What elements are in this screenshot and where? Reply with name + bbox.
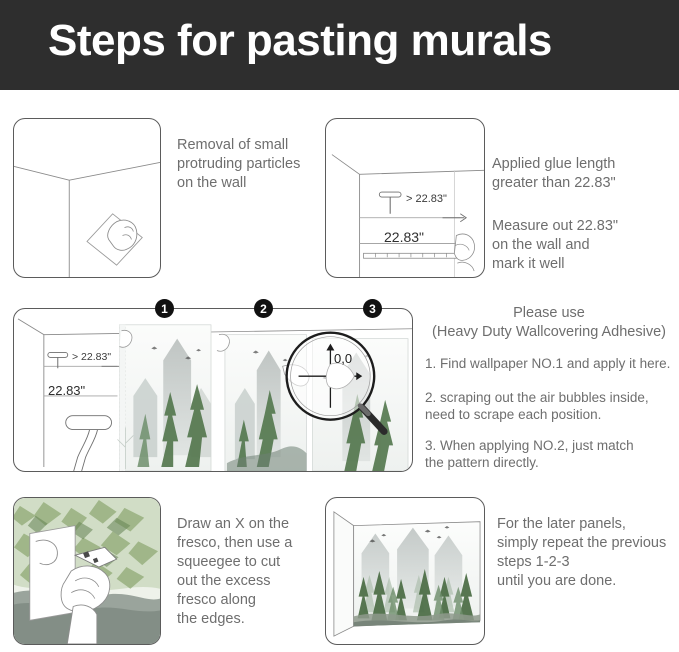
caption-step5: For the later panels, simply repeat the … xyxy=(497,515,677,591)
panel-step5-finished-wall xyxy=(325,497,485,645)
label-magnifier-origin: 0,0 xyxy=(334,351,352,366)
label-measure-step3: 22.83" xyxy=(48,383,85,398)
finished-wall-diagram xyxy=(326,498,484,644)
badge-step-2: 2 xyxy=(254,299,273,318)
label-tool-length-step2: > 22.83" xyxy=(406,193,447,205)
caption-step4: Draw an X on the fresco, then use a sque… xyxy=(177,515,337,629)
badge-step-1: 1 xyxy=(155,299,174,318)
panel-step2-glue-measuring: > 22.83" 22.83" xyxy=(325,118,485,278)
label-tool-length-step3: > 22.83" xyxy=(72,351,111,363)
label-measure-step2: 22.83" xyxy=(384,229,424,245)
panel-step4-trim-excess xyxy=(13,497,161,645)
wall-corner-diagram xyxy=(14,119,160,277)
instruction-3: 3. When applying NO.2, just match the pa… xyxy=(425,437,675,471)
page-title: Steps for pasting murals xyxy=(48,16,552,66)
header-bar: Steps for pasting murals xyxy=(0,0,679,90)
instruction-2: 2. scraping out the air bubbles inside, … xyxy=(425,389,675,423)
trim-excess-diagram xyxy=(14,498,160,644)
instruction-1: 1. Find wallpaper NO.1 and apply it here… xyxy=(425,355,675,372)
adhesive-heading: Please use (Heavy Duty Wallcovering Adhe… xyxy=(425,304,673,342)
panel-step1-wall-cleaning xyxy=(13,118,161,278)
panel-step3-wallpaper-application: > 22.83" 22.83" 0,0 xyxy=(13,308,413,472)
caption-step1: Removal of small protruding particles on… xyxy=(177,136,327,193)
instruction-sheet: Steps for pasting murals Removal of smal… xyxy=(0,0,679,652)
header-divider xyxy=(0,90,679,93)
measure-wall-diagram xyxy=(326,119,484,277)
badge-step-3: 3 xyxy=(363,299,382,318)
caption-step2-bottom: Measure out 22.83" on the wall and mark … xyxy=(492,217,672,274)
caption-step2-top: Applied glue length greater than 22.83" xyxy=(492,155,672,193)
